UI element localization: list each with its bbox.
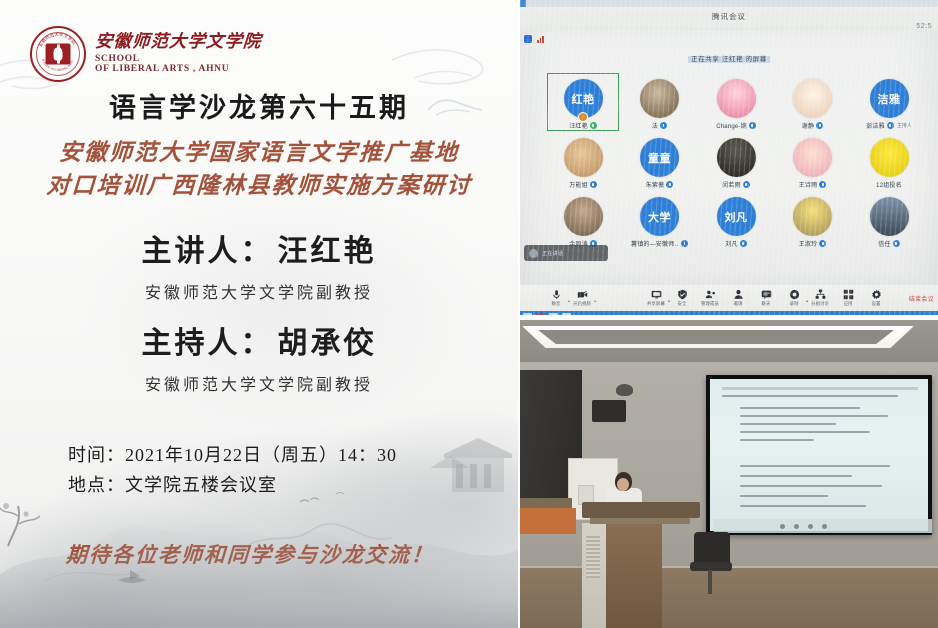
tencent-meeting-photo: 腾讯会议 52:5 正在共享 汪红艳 的屏幕 红艳 汪红艳 (520, 0, 938, 315)
video-button[interactable]: 开启视频 (568, 289, 596, 307)
chat-button[interactable]: 聊天 (752, 289, 780, 307)
microphone-icon (740, 240, 747, 247)
microphone-icon (666, 181, 673, 188)
participant-cell[interactable]: 王淑玲 (780, 197, 846, 248)
event-details: 时间：2021年10月22日（周五）14：30 地点：文学院五楼会议室 (68, 440, 397, 500)
toolbar-label: 分组讨论 (811, 301, 829, 307)
toolbar-label: 开启视频 (573, 301, 591, 307)
projection-screen (706, 375, 932, 535)
speaker-line: 主讲人：汪红艳 (0, 226, 518, 270)
chat-icon (761, 289, 772, 300)
meeting-status-icons (524, 35, 544, 43)
avatar (564, 138, 603, 177)
apps-button[interactable]: 应用 (834, 289, 862, 307)
microphone-icon (590, 122, 597, 129)
podium (582, 502, 700, 628)
lecture-room-photo (520, 320, 938, 628)
participant-cell[interactable]: 洁雅 彭洁雅主持人 (856, 79, 922, 130)
poster-closing-line: 期待各位老师和同学参与沙龙交流！ (66, 539, 434, 569)
chair (690, 532, 732, 592)
record-icon (789, 289, 800, 300)
mute-button[interactable]: 静音 (542, 289, 570, 307)
microphone-icon (551, 289, 562, 300)
members-icon (705, 289, 716, 300)
toolbar-label: 设置 (872, 301, 881, 307)
participant-name: 朱紫薇 (646, 180, 665, 189)
avatar (870, 197, 909, 236)
meeting-toolbar: 静音 ▴ 开启视频 ▴ 共享屏幕 ▴ (520, 285, 938, 311)
school-seal-icon: 安徽师范大学文学院 SCHOOL OF LIBERAL ARTS (30, 26, 86, 82)
host-name: 胡承佼 (278, 327, 377, 360)
hand-raise-badge (578, 112, 588, 122)
participant-cell[interactable]: 大学 薯镇的—安徽师… (627, 197, 693, 248)
participant-grid: 红艳 汪红艳 法 Change-婉 谢静 (550, 79, 922, 256)
participant-cell[interactable]: 谢静 (780, 79, 846, 130)
breakout-rooms-icon (815, 289, 826, 300)
toast-avatar-icon (529, 249, 538, 258)
projected-slide (710, 379, 928, 531)
breakout-rooms-button[interactable]: 分组讨论 (806, 289, 834, 307)
microphone-icon (749, 122, 756, 129)
toolbar-label: 安全 (678, 301, 687, 307)
participant-cell[interactable]: 闵若雨 (703, 138, 769, 189)
participant-row: 红艳 汪红艳 法 Change-婉 谢静 (550, 79, 922, 130)
poster-title: 语言学沙龙第六十五期 (0, 86, 518, 125)
microphone-icon (819, 240, 826, 247)
ink-landscape-illustration (0, 398, 518, 628)
participant-name: 闵若雨 (722, 180, 741, 189)
speaking-toast: 正在讲话 (524, 245, 608, 261)
meeting-window: 腾讯会议 52:5 正在共享 汪红艳 的屏幕 红艳 汪红艳 (520, 7, 938, 303)
shield-icon (677, 289, 688, 300)
host-role-label: 主持人： (142, 327, 274, 360)
avatar: 大学 (640, 197, 679, 236)
network-signal-icon[interactable] (537, 35, 544, 43)
participant-name: 薯镇的—安徽师… (631, 239, 679, 248)
panel-divider-vertical (518, 0, 520, 628)
participant-cell[interactable]: 童童 朱紫薇 (627, 138, 693, 189)
meeting-timer: 52:5 (916, 23, 932, 30)
school-name-en-line1: SCHOOL (95, 55, 262, 65)
participant-name: 王诗雨 (799, 180, 818, 189)
participant-cell[interactable]: 万能姐 (550, 138, 616, 189)
participant-name: 12组投名 (876, 180, 902, 189)
slide-toolbar (714, 519, 932, 533)
avatar (564, 197, 603, 236)
participant-cell[interactable]: 王诗雨 (780, 138, 846, 189)
avatar (717, 79, 756, 118)
panel-divider-horizontal (520, 315, 938, 320)
microphone-icon (681, 240, 688, 247)
avatar (870, 138, 909, 177)
microphone-icon (743, 181, 750, 188)
poster-subtitle: 安徽师范大学国家语言文字推广基地 对口培训广西隆林县教师实施方案研讨 (0, 136, 518, 202)
toolbar-label: 邀请 (734, 301, 743, 307)
security-camera-icon (616, 384, 633, 396)
poster-subtitle-line1: 安徽师范大学国家语言文字推广基地 (0, 136, 518, 169)
participant-name: 万能姐 (569, 180, 588, 189)
ceiling-recess (538, 330, 894, 344)
host-line: 主持人：胡承佼 (0, 318, 518, 362)
microphone-icon (660, 122, 667, 129)
speaker-block: 主讲人：汪红艳 安徽师范大学文学院副教授 (0, 226, 518, 303)
toolbar-label: 应用 (844, 301, 853, 307)
participant-cell[interactable]: 红艳 汪红艳 (550, 79, 616, 130)
avatar (793, 197, 832, 236)
screen-share-notice: 正在共享 汪红艳 的屏幕 (520, 53, 938, 63)
toolbar-label: 共享屏幕 (647, 301, 665, 307)
microphone-icon (590, 181, 597, 188)
presenter-face (617, 478, 629, 491)
participant-name: 刘凡 (725, 239, 737, 248)
microphone-icon (816, 122, 823, 129)
pavilion-motif-icon (430, 438, 512, 492)
invite-button[interactable]: 邀请 (724, 289, 752, 307)
tree-motif-icon (0, 503, 40, 546)
participant-cell[interactable]: 法 (627, 79, 693, 130)
video-camera-icon (577, 289, 588, 300)
speaker-name: 汪红艳 (278, 235, 377, 268)
host-block: 主持人：胡承佼 安徽师范大学文学院副教授 (0, 318, 518, 395)
school-name-en-line2: OF LIBERAL ARTS , AHNU (95, 65, 262, 75)
microphone-icon (819, 181, 826, 188)
settings-button[interactable]: 设置 (862, 289, 890, 307)
toolbar-label: 管理成员 (701, 301, 719, 307)
toast-text: 正在讲话 (542, 250, 563, 257)
share-screen-button[interactable]: 共享屏幕 (642, 289, 670, 307)
microphone-icon (893, 240, 900, 247)
participant-cell[interactable]: Change-婉 (703, 79, 769, 130)
wall-speaker (592, 400, 626, 422)
avatar (717, 138, 756, 177)
participant-cell[interactable]: 余周涛 (550, 197, 616, 248)
speaker-affiliation: 安徽师范大学文学院副教授 (0, 279, 518, 303)
end-meeting-button[interactable]: 结束会议 (909, 294, 934, 303)
participant-row: 万能姐 童童 朱紫薇 闵若雨 王诗雨 (550, 138, 922, 189)
chevron-up-icon[interactable]: ▴ (594, 294, 596, 303)
poster-subtitle-line2: 对口培训广西隆林县教师实施方案研讨 (0, 169, 518, 202)
event-place: 地点：文学院五楼会议室 (68, 470, 397, 500)
participant-name: 汪红艳 (569, 121, 588, 130)
apps-icon (843, 289, 854, 300)
meeting-app-title: 腾讯会议 (520, 11, 938, 22)
poster-header: 安徽师范大学文学院 SCHOOL OF LIBERAL ARTS 安徽师范大学文… (30, 26, 262, 82)
avatar (793, 79, 832, 118)
participant-name: 法 (652, 121, 658, 130)
avatar: 刘凡 (717, 197, 756, 236)
event-time: 时间：2021年10月22日（周五）14：30 (68, 440, 397, 470)
participant-name: 信任 (878, 239, 890, 248)
shield-status-icon[interactable] (524, 35, 532, 43)
participant-cell[interactable]: 12组投名 (856, 138, 922, 189)
avatar: 洁雅 (870, 79, 909, 118)
host-tag: 主持人 (897, 122, 912, 129)
school-name-cn: 安徽师范大学文学院 (94, 33, 262, 51)
record-button[interactable]: 录制 (780, 289, 808, 307)
lecture-poster: 安徽师范大学文学院 SCHOOL OF LIBERAL ARTS 安徽师范大学文… (0, 0, 518, 628)
avatar: 童童 (640, 138, 679, 177)
invite-icon (733, 289, 744, 300)
participant-name: 王淑玲 (799, 239, 818, 248)
host-affiliation: 安徽师范大学文学院副教授 (0, 371, 518, 395)
microphone-icon (887, 122, 894, 129)
avatar (793, 138, 832, 177)
participant-name: Change-婉 (716, 121, 747, 130)
toolbar-label: 聊天 (762, 301, 771, 307)
participant-cell[interactable]: 信任 (856, 197, 922, 248)
avatar (640, 79, 679, 118)
participant-name: 彭洁雅 (866, 121, 885, 130)
participant-cell[interactable]: 刘凡 刘凡 (703, 197, 769, 248)
toolbar-label: 录制 (790, 301, 799, 307)
participant-name: 谢静 (802, 121, 814, 130)
manage-members-button[interactable]: 管理成员 (696, 289, 724, 307)
toolbar-label: 静音 (552, 301, 561, 307)
orange-desk (520, 508, 576, 534)
speaker-role-label: 主讲人： (142, 235, 274, 268)
security-button[interactable]: 安全 (668, 289, 696, 307)
participant-row: 余周涛 大学 薯镇的—安徽师… 刘凡 刘凡 王淑玲 (550, 197, 922, 248)
share-screen-icon (651, 289, 662, 300)
gear-icon (871, 289, 882, 300)
photo-collage: 安徽师范大学文学院 SCHOOL OF LIBERAL ARTS 安徽师范大学文… (0, 0, 938, 628)
